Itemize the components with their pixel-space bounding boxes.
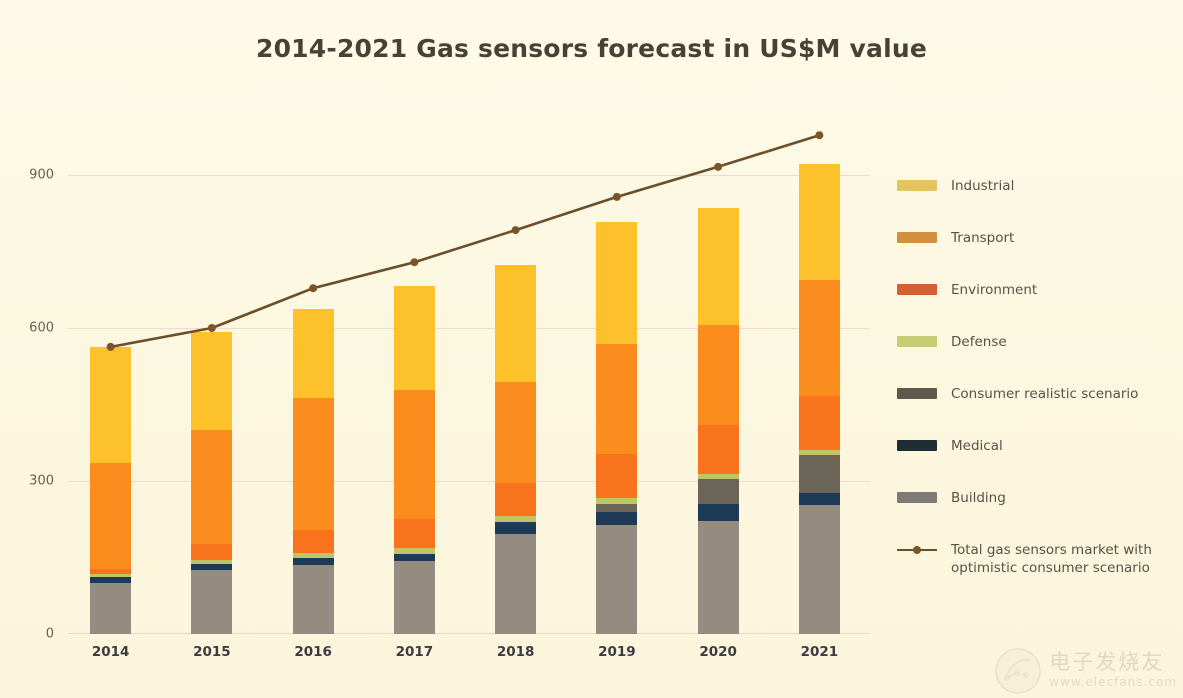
gridline <box>68 481 870 482</box>
plot-area: 0300600900 20142015201620172018201920202… <box>60 150 870 650</box>
bar-segment-industrial[interactable] <box>191 332 232 430</box>
watermark-text: 电子发烧友 www.elecfans.com <box>1049 651 1177 691</box>
stacked-bar[interactable] <box>191 332 232 634</box>
y-axis-tick-label: 300 <box>29 474 54 489</box>
legend-item-industrial[interactable]: Industrial <box>897 178 1167 194</box>
bar-segment-building[interactable] <box>495 534 536 634</box>
legend-item-label: Industrial <box>951 178 1014 195</box>
bar-segment-environment[interactable] <box>394 519 435 548</box>
legend-item-building[interactable]: Building <box>897 490 1167 506</box>
legend-item-consumer-realistic-scenario[interactable]: Consumer realistic scenario <box>897 386 1167 402</box>
x-axis-tick-label: 2021 <box>801 644 839 660</box>
bar-segment-building[interactable] <box>191 570 232 634</box>
bar-segment-environment[interactable] <box>191 544 232 559</box>
legend-swatch-icon <box>897 440 937 451</box>
legend-item-label: Environment <box>951 282 1037 299</box>
bar-group-2015[interactable]: 2015 <box>191 150 232 634</box>
bar-segment-medical[interactable] <box>90 577 131 583</box>
bar-segment-defense[interactable] <box>596 498 637 504</box>
legend-line-text-1: Total gas sensors market with <box>951 542 1152 558</box>
stacked-bar[interactable] <box>698 208 739 634</box>
legend-swatch-icon <box>897 284 937 295</box>
bar-group-2019[interactable]: 2019 <box>596 150 637 634</box>
legend-item-total-line[interactable]: Total gas sensors market with optimistic… <box>897 542 1167 577</box>
chart-canvas: 2014-2021 Gas sensors forecast in US$M v… <box>0 0 1183 698</box>
x-axis-tick-label: 2018 <box>497 644 535 660</box>
watermark-url: www.elecfans.com <box>1049 675 1177 689</box>
bar-segment-medical[interactable] <box>495 522 536 534</box>
legend-swatch-icon <box>897 492 937 503</box>
gridline <box>68 328 870 329</box>
bar-segment-building[interactable] <box>394 561 435 634</box>
x-axis-tick-label: 2017 <box>396 644 434 660</box>
bar-segment-defense[interactable] <box>90 574 131 577</box>
bar-group-2021[interactable]: 2021 <box>799 150 840 634</box>
legend-item-label: Building <box>951 490 1006 507</box>
bar-group-2018[interactable]: 2018 <box>495 150 536 634</box>
legend-swatch-icon <box>897 232 937 243</box>
x-axis-tick-label: 2019 <box>598 644 636 660</box>
gridline <box>68 175 870 176</box>
bar-segment-building[interactable] <box>90 583 131 634</box>
bar-segment-medical[interactable] <box>394 554 435 561</box>
bar-segment-consumer-realistic-scenario[interactable] <box>799 455 840 493</box>
bar-segment-transport[interactable] <box>293 398 334 530</box>
bar-segment-industrial[interactable] <box>90 347 131 463</box>
bar-group-2017[interactable]: 2017 <box>394 150 435 634</box>
legend-item-label: Defense <box>951 334 1007 351</box>
bar-segment-transport[interactable] <box>495 382 536 483</box>
bar-segment-environment[interactable] <box>495 483 536 517</box>
bar-segment-industrial[interactable] <box>394 286 435 391</box>
bar-segment-defense[interactable] <box>394 548 435 554</box>
bar-segment-defense[interactable] <box>293 553 334 558</box>
bar-segment-industrial[interactable] <box>596 222 637 344</box>
bar-segment-transport[interactable] <box>596 344 637 454</box>
bar-segment-environment[interactable] <box>90 569 131 574</box>
y-axis-tick-label: 900 <box>29 168 54 183</box>
stacked-bar[interactable] <box>394 286 435 634</box>
stacked-bar[interactable] <box>293 309 334 634</box>
x-axis-tick-label: 2015 <box>193 644 231 660</box>
y-axis-tick-label: 0 <box>46 627 54 642</box>
bar-segment-building[interactable] <box>799 505 840 634</box>
line-marker-icon <box>897 543 937 557</box>
x-axis-baseline <box>68 633 870 634</box>
legend-swatch-icon <box>897 180 937 191</box>
stacked-bar[interactable] <box>799 164 840 634</box>
x-axis-tick-label: 2016 <box>294 644 332 660</box>
total-market-line-overlay <box>60 150 870 650</box>
bar-segment-environment[interactable] <box>293 530 334 553</box>
y-axis-tick-label: 600 <box>29 321 54 336</box>
chart-legend: IndustrialTransportEnvironmentDefenseCon… <box>897 178 1167 577</box>
bar-segment-industrial[interactable] <box>799 164 840 280</box>
bar-segment-transport[interactable] <box>90 463 131 569</box>
bar-segment-building[interactable] <box>596 525 637 634</box>
bar-segment-industrial[interactable] <box>495 265 536 382</box>
bar-segment-transport[interactable] <box>191 430 232 545</box>
legend-item-label: Medical <box>951 438 1003 455</box>
x-axis-tick-label: 2014 <box>92 644 130 660</box>
bar-segment-defense[interactable] <box>799 450 840 455</box>
stacked-bar[interactable] <box>596 222 637 634</box>
bar-segment-consumer-realistic-scenario[interactable] <box>596 504 637 512</box>
legend-item-label: Consumer realistic scenario <box>951 386 1138 403</box>
chart-title: 2014-2021 Gas sensors forecast in US$M v… <box>0 34 1183 63</box>
line-data-point-2021[interactable] <box>815 131 823 139</box>
bar-segment-medical[interactable] <box>698 504 739 521</box>
legend-category-items: IndustrialTransportEnvironmentDefenseCon… <box>897 178 1167 506</box>
legend-swatch-icon <box>897 336 937 347</box>
bar-segment-medical[interactable] <box>799 493 840 506</box>
legend-swatch-icon <box>897 388 937 399</box>
bar-segment-defense[interactable] <box>191 560 232 564</box>
bar-segment-transport[interactable] <box>698 325 739 425</box>
watermark: 电子发烧友 www.elecfans.com <box>995 648 1177 694</box>
stacked-bar[interactable] <box>90 347 131 634</box>
bar-segment-medical[interactable] <box>293 558 334 565</box>
x-axis-tick-label: 2020 <box>699 644 737 660</box>
bar-segment-environment[interactable] <box>596 454 637 498</box>
bar-group-2016[interactable]: 2016 <box>293 150 334 634</box>
bar-segment-defense[interactable] <box>495 516 536 522</box>
bar-segment-environment[interactable] <box>799 396 840 450</box>
legend-item-label: Total gas sensors market with optimistic… <box>951 542 1152 577</box>
legend-item-transport[interactable]: Transport <box>897 230 1167 246</box>
bar-segment-medical[interactable] <box>596 512 637 525</box>
bar-segment-consumer-realistic-scenario[interactable] <box>698 479 739 504</box>
bar-segment-medical[interactable] <box>191 564 232 570</box>
bar-group-2014[interactable]: 2014 <box>90 150 131 634</box>
bar-segment-industrial[interactable] <box>293 309 334 398</box>
bar-group-2020[interactable]: 2020 <box>698 150 739 634</box>
legend-line-text-2: optimistic consumer scenario <box>951 560 1150 576</box>
legend-item-medical[interactable]: Medical <box>897 438 1167 454</box>
legend-item-label: Transport <box>951 230 1014 247</box>
bar-segment-transport[interactable] <box>799 280 840 396</box>
bar-segment-environment[interactable] <box>698 425 739 474</box>
bar-segment-defense[interactable] <box>698 474 739 479</box>
bar-segment-building[interactable] <box>293 565 334 634</box>
bar-segment-transport[interactable] <box>394 390 435 519</box>
legend-item-defense[interactable]: Defense <box>897 334 1167 350</box>
bar-segment-industrial[interactable] <box>698 208 739 326</box>
watermark-logo-icon <box>995 648 1041 694</box>
legend-item-environment[interactable]: Environment <box>897 282 1167 298</box>
stacked-bar[interactable] <box>495 265 536 634</box>
bar-segment-building[interactable] <box>698 521 739 634</box>
watermark-cn: 电子发烧友 <box>1049 650 1164 674</box>
